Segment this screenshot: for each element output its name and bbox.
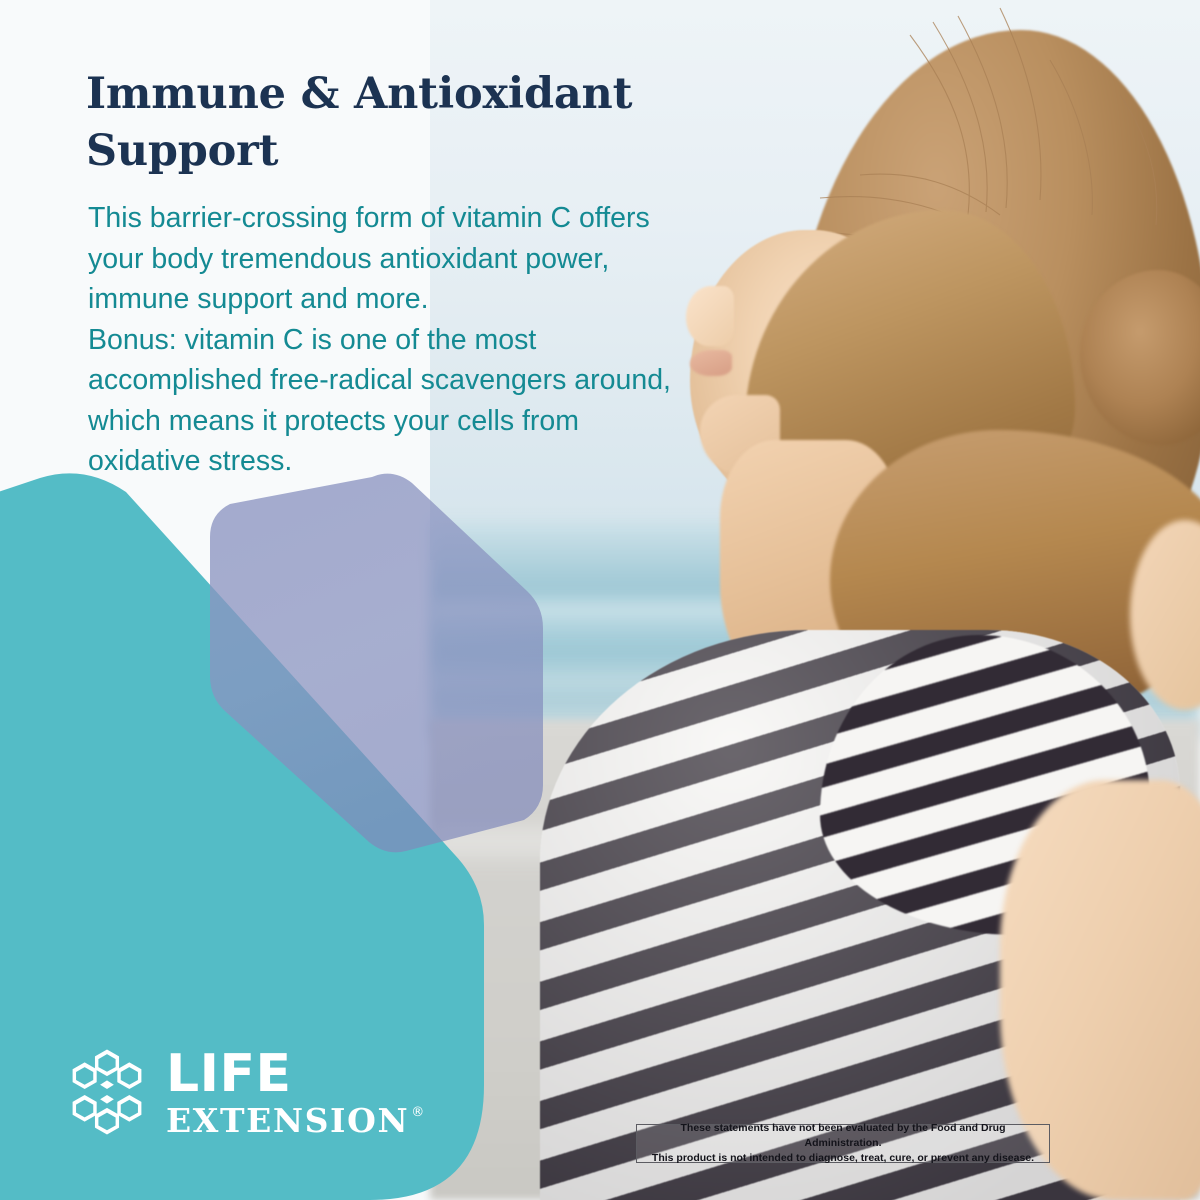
body-paragraph-2: Bonus: vitamin C is one of the most acco…	[88, 320, 678, 482]
registered-trademark-icon: ®	[411, 1106, 424, 1119]
headline-line-1: Immune & Antioxidant	[86, 66, 646, 123]
fda-disclaimer: These statements have not been evaluated…	[636, 1124, 1050, 1163]
brand-logo[interactable]: LIFE EXTENSION ®	[64, 1046, 424, 1138]
page-title: Immune & Antioxidant Support	[86, 66, 646, 180]
headline-line-2: Support	[86, 123, 646, 180]
body-copy: This barrier-crossing form of vitamin C …	[88, 198, 678, 482]
body-paragraph-1: This barrier-crossing form of vitamin C …	[88, 198, 678, 320]
blue-accent-hexagon	[0, 0, 1200, 1200]
disclaimer-line-1: These statements have not been evaluated…	[641, 1121, 1045, 1151]
disclaimer-line-2: This product is not intended to diagnose…	[652, 1151, 1034, 1166]
logo-text-life: LIFE	[166, 1048, 424, 1100]
ad-creative-canvas: Immune & Antioxidant Support This barrie…	[0, 0, 1200, 1200]
logo-wordmark: LIFE EXTENSION ®	[166, 1048, 424, 1137]
logo-text-extension: EXTENSION	[166, 1104, 409, 1137]
hexagonal-molecular-snowflake-icon	[64, 1046, 150, 1138]
